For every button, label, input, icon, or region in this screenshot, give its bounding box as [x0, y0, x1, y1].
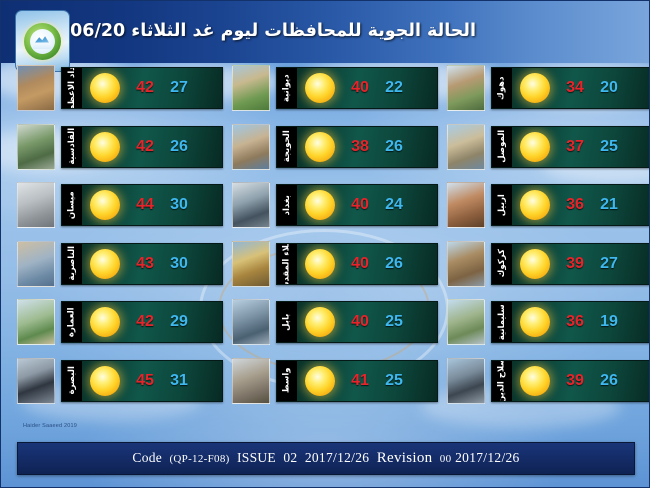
forecast-card-panel: كربلاء المقدسة 40 26	[276, 243, 438, 285]
temperature-pair: 34 20	[558, 79, 650, 97]
min-temperature: 19	[592, 313, 626, 331]
forecast-column-right: بغداد الاعظمية 42 27 القادسية	[17, 67, 223, 422]
min-temperature: 26	[162, 138, 196, 156]
temperature-pair: 36 21	[558, 196, 650, 214]
province-label-strip: واسط	[277, 361, 297, 401]
province-photo	[17, 241, 55, 287]
temperature-pair: 37 25	[558, 138, 650, 156]
province-label-strip: القادسية	[62, 127, 82, 167]
max-temperature: 37	[558, 138, 592, 156]
province-name: بابل	[283, 313, 292, 330]
forecast-card-panel: واسط 41 25	[276, 360, 438, 402]
forecast-card[interactable]: بغداد 40 24	[232, 184, 438, 226]
province-name: الناصرية	[68, 246, 77, 281]
sun-icon	[90, 73, 120, 103]
temperature-pair: 39 26	[558, 372, 650, 390]
province-photo	[232, 182, 270, 228]
weather-authority-logo-icon	[15, 10, 70, 72]
province-name: دهوك	[498, 76, 507, 99]
forecast-card-panel: دهوك 34 20	[491, 67, 650, 109]
temperature-pair: 36 19	[558, 313, 650, 331]
max-temperature: 42	[128, 313, 162, 331]
forecast-card-panel: سليمانية 36 19	[491, 301, 650, 343]
max-temperature: 41	[343, 372, 377, 390]
temperature-pair: 38 26	[343, 138, 437, 156]
province-photo	[232, 65, 270, 111]
footer-revision-date: 2017/12/26	[455, 450, 520, 465]
forecast-card-panel: ميسان 44 30	[61, 184, 223, 226]
province-label-strip: البصرة	[62, 361, 82, 401]
sun-icon	[305, 190, 335, 220]
province-label-strip: صلاح الدين	[492, 361, 512, 401]
province-photo	[447, 182, 485, 228]
province-label-strip: بغداد الاعظمية	[62, 68, 82, 108]
page-title: الحالة الجوية للمحافظات ليوم غد الثلاثاء…	[15, 23, 476, 41]
max-temperature: 39	[558, 372, 592, 390]
sun-icon	[305, 73, 335, 103]
min-temperature: 22	[377, 79, 411, 97]
min-temperature: 30	[162, 255, 196, 273]
province-name: العمارة	[68, 307, 77, 337]
forecast-card[interactable]: سليمانية 36 19	[447, 301, 650, 343]
province-name: صلاح الدين	[498, 361, 507, 401]
forecast-card[interactable]: البصرة 45 31	[17, 360, 223, 402]
province-label-strip: بغداد	[277, 185, 297, 225]
max-temperature: 40	[343, 79, 377, 97]
forecast-card[interactable]: دهوك 34 20	[447, 67, 650, 109]
province-label-strip: الحويجة	[277, 127, 297, 167]
province-name: بغداد الاعظمية	[68, 68, 77, 108]
province-label-strip: كربلاء المقدسة	[277, 244, 297, 284]
forecast-card[interactable]: القادسية 42 26	[17, 126, 223, 168]
min-temperature: 30	[162, 196, 196, 214]
sun-icon	[520, 249, 550, 279]
max-temperature: 43	[128, 255, 162, 273]
document-control-text: Code (QP-12-F08) ISSUE 02 2017/12/26 Rev…	[132, 450, 519, 467]
footer-code-label: Code	[132, 450, 162, 465]
province-name: بغداد	[283, 195, 292, 215]
sun-icon	[520, 132, 550, 162]
max-temperature: 42	[128, 138, 162, 156]
sun-icon	[90, 249, 120, 279]
temperature-pair: 42 27	[128, 79, 222, 97]
sun-icon	[305, 132, 335, 162]
province-name: ديوانية	[283, 74, 292, 102]
max-temperature: 39	[558, 255, 592, 273]
max-temperature: 40	[343, 255, 377, 273]
forecast-card[interactable]: صلاح الدين 39 26	[447, 360, 650, 402]
province-name: واسط	[283, 368, 292, 394]
forecast-card-panel: بغداد 40 24	[276, 184, 438, 226]
min-temperature: 24	[377, 196, 411, 214]
province-photo	[447, 241, 485, 287]
min-temperature: 25	[592, 138, 626, 156]
province-label-strip: العمارة	[62, 302, 82, 342]
province-label-strip: دهوك	[492, 68, 512, 108]
province-photo	[447, 358, 485, 404]
province-photo	[17, 124, 55, 170]
sun-icon	[305, 249, 335, 279]
forecast-card-panel: القادسية 42 26	[61, 126, 223, 168]
forecast-card[interactable]: اربيل 36 21	[447, 184, 650, 226]
temperature-pair: 42 29	[128, 313, 222, 331]
forecast-grid: بغداد الاعظمية 42 27 القادسية	[1, 67, 650, 422]
forecast-card[interactable]: بابل 40 25	[232, 301, 438, 343]
temperature-pair: 40 24	[343, 196, 437, 214]
forecast-card-panel: بغداد الاعظمية 42 27	[61, 67, 223, 109]
forecast-card-panel: اربيل 36 21	[491, 184, 650, 226]
sun-icon	[305, 307, 335, 337]
logo-outer-ring	[24, 23, 61, 60]
province-photo	[447, 124, 485, 170]
province-name: الموصل	[498, 130, 507, 163]
forecast-card-panel: صلاح الدين 39 26	[491, 360, 650, 402]
min-temperature: 25	[377, 313, 411, 331]
min-temperature: 29	[162, 313, 196, 331]
temperature-pair: 43 30	[128, 255, 222, 273]
forecast-card-panel: البصرة 45 31	[61, 360, 223, 402]
sun-icon	[90, 190, 120, 220]
province-label-strip: ديوانية	[277, 68, 297, 108]
province-label-strip: كركوك	[492, 244, 512, 284]
sun-icon	[520, 366, 550, 396]
forecast-card-panel: ديوانية 40 22	[276, 67, 438, 109]
province-photo	[232, 358, 270, 404]
province-photo	[17, 358, 55, 404]
min-temperature: 26	[377, 255, 411, 273]
province-label-strip: الناصرية	[62, 244, 82, 284]
forecast-card[interactable]: الموصل 37 25	[447, 126, 650, 168]
temperature-pair: 39 27	[558, 255, 650, 273]
min-temperature: 27	[592, 255, 626, 273]
province-name: اربيل	[498, 194, 507, 216]
forecast-card[interactable]: كركوك 39 27	[447, 243, 650, 285]
forecast-card-panel: الحويجة 38 26	[276, 126, 438, 168]
province-name: كركوك	[498, 249, 507, 277]
footer-revision-label: Revision	[377, 450, 433, 466]
temperature-pair: 42 26	[128, 138, 222, 156]
sun-icon	[90, 307, 120, 337]
max-temperature: 40	[343, 313, 377, 331]
header-band: الحالة الجوية للمحافظات ليوم غد الثلاثاء…	[1, 1, 650, 63]
province-photo	[232, 124, 270, 170]
forecast-column-left: دهوك 34 20 الموصل 37	[447, 67, 650, 422]
min-temperature: 25	[377, 372, 411, 390]
forecast-column-middle: ديوانية 40 22 الحويجة	[232, 67, 438, 422]
max-temperature: 42	[128, 79, 162, 97]
max-temperature: 40	[343, 196, 377, 214]
temperature-pair: 41 25	[343, 372, 437, 390]
sun-icon	[520, 190, 550, 220]
max-temperature: 36	[558, 313, 592, 331]
min-temperature: 21	[592, 196, 626, 214]
forecast-card-panel: بابل 40 25	[276, 301, 438, 343]
forecast-card[interactable]: بغداد الاعظمية 42 27	[17, 67, 223, 109]
forecast-card-panel: الموصل 37 25	[491, 126, 650, 168]
province-photo	[232, 241, 270, 287]
sun-icon	[305, 366, 335, 396]
forecast-card[interactable]: واسط 41 25	[232, 360, 438, 402]
sun-icon	[520, 307, 550, 337]
footer-band: Code (QP-12-F08) ISSUE 02 2017/12/26 Rev…	[17, 442, 635, 475]
sun-icon	[90, 366, 120, 396]
province-name: ميسان	[68, 191, 77, 219]
author-signature: Haider Saaeed 2019	[23, 423, 77, 429]
province-name: البصرة	[68, 366, 77, 394]
province-photo	[232, 299, 270, 345]
max-temperature: 45	[128, 372, 162, 390]
max-temperature: 38	[343, 138, 377, 156]
forecast-card[interactable]: العمارة 42 29	[17, 301, 223, 343]
forecast-card[interactable]: ميسان 44 30	[17, 184, 223, 226]
min-temperature: 31	[162, 372, 196, 390]
temperature-pair: 44 30	[128, 196, 222, 214]
footer-issue-date: 2017/12/26	[305, 450, 370, 465]
temperature-pair: 40 22	[343, 79, 437, 97]
forecast-card-panel: العمارة 42 29	[61, 301, 223, 343]
province-label-strip: الموصل	[492, 127, 512, 167]
province-name: الحويجة	[283, 130, 292, 162]
forecast-card-panel: الناصرية 43 30	[61, 243, 223, 285]
footer-revision-value: 00	[440, 453, 452, 465]
forecast-card-panel: كركوك 39 27	[491, 243, 650, 285]
sun-icon	[520, 73, 550, 103]
province-name: كربلاء المقدسة	[283, 244, 292, 284]
forecast-card[interactable]: ديوانية 40 22	[232, 67, 438, 109]
min-temperature: 20	[592, 79, 626, 97]
min-temperature: 27	[162, 79, 196, 97]
forecast-card[interactable]: الناصرية 43 30	[17, 243, 223, 285]
logo-inner-disc	[30, 29, 55, 54]
max-temperature: 34	[558, 79, 592, 97]
footer-code-value: (QP-12-F08)	[169, 453, 229, 465]
min-temperature: 26	[377, 138, 411, 156]
province-label-strip: اربيل	[492, 185, 512, 225]
province-label-strip: بابل	[277, 302, 297, 342]
forecast-card[interactable]: كربلاء المقدسة 40 26	[232, 243, 438, 285]
temperature-pair: 40 25	[343, 313, 437, 331]
footer-issue-label: ISSUE	[237, 450, 276, 465]
province-label-strip: سليمانية	[492, 302, 512, 342]
weather-poster: الحالة الجوية للمحافظات ليوم غد الثلاثاء…	[0, 0, 650, 488]
province-photo	[17, 182, 55, 228]
sun-icon	[90, 132, 120, 162]
province-photo	[447, 299, 485, 345]
province-photo	[17, 299, 55, 345]
temperature-pair: 45 31	[128, 372, 222, 390]
min-temperature: 26	[592, 372, 626, 390]
province-name: سليمانية	[498, 304, 507, 340]
province-label-strip: ميسان	[62, 185, 82, 225]
max-temperature: 36	[558, 196, 592, 214]
province-photo	[447, 65, 485, 111]
province-name: القادسية	[68, 128, 77, 165]
max-temperature: 44	[128, 196, 162, 214]
footer-issue-value: 02	[283, 450, 297, 465]
forecast-card[interactable]: الحويجة 38 26	[232, 126, 438, 168]
province-photo	[17, 65, 55, 111]
temperature-pair: 40 26	[343, 255, 437, 273]
